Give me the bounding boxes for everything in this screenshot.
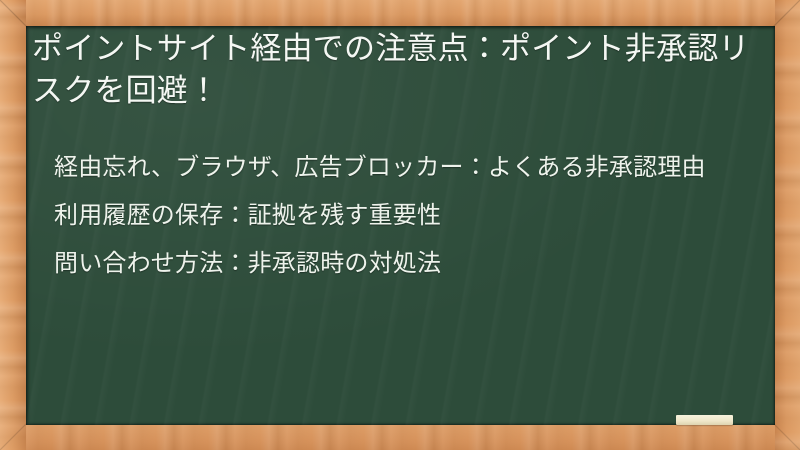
chalk-stick xyxy=(676,415,733,425)
frame-rail-top xyxy=(0,0,800,26)
frame-rail-bottom xyxy=(0,425,800,450)
frame-rail-right xyxy=(775,0,800,450)
chalkboard-slide: ポイントサイト経由での注意点：ポイント非承認リスクを回避！ 経由忘れ、ブラウザ、… xyxy=(0,0,800,450)
bullet-item-3: 問い合わせ方法：非承認時の対処法 xyxy=(54,247,754,281)
slide-title: ポイントサイト経由での注意点：ポイント非承認リスクを回避！ xyxy=(32,28,752,113)
bullet-item-1: 経由忘れ、ブラウザ、広告ブロッカー：よくある非承認理由 xyxy=(54,151,754,185)
blackboard-surface: ポイントサイト経由での注意点：ポイント非承認リスクを回避！ 経由忘れ、ブラウザ、… xyxy=(26,26,775,425)
bullet-item-2: 利用履歴の保存：証拠を残す重要性 xyxy=(54,199,754,233)
slide-bullet-list: 経由忘れ、ブラウザ、広告ブロッカー：よくある非承認理由 利用履歴の保存：証拠を残… xyxy=(54,151,754,281)
frame-rail-left xyxy=(0,0,26,450)
